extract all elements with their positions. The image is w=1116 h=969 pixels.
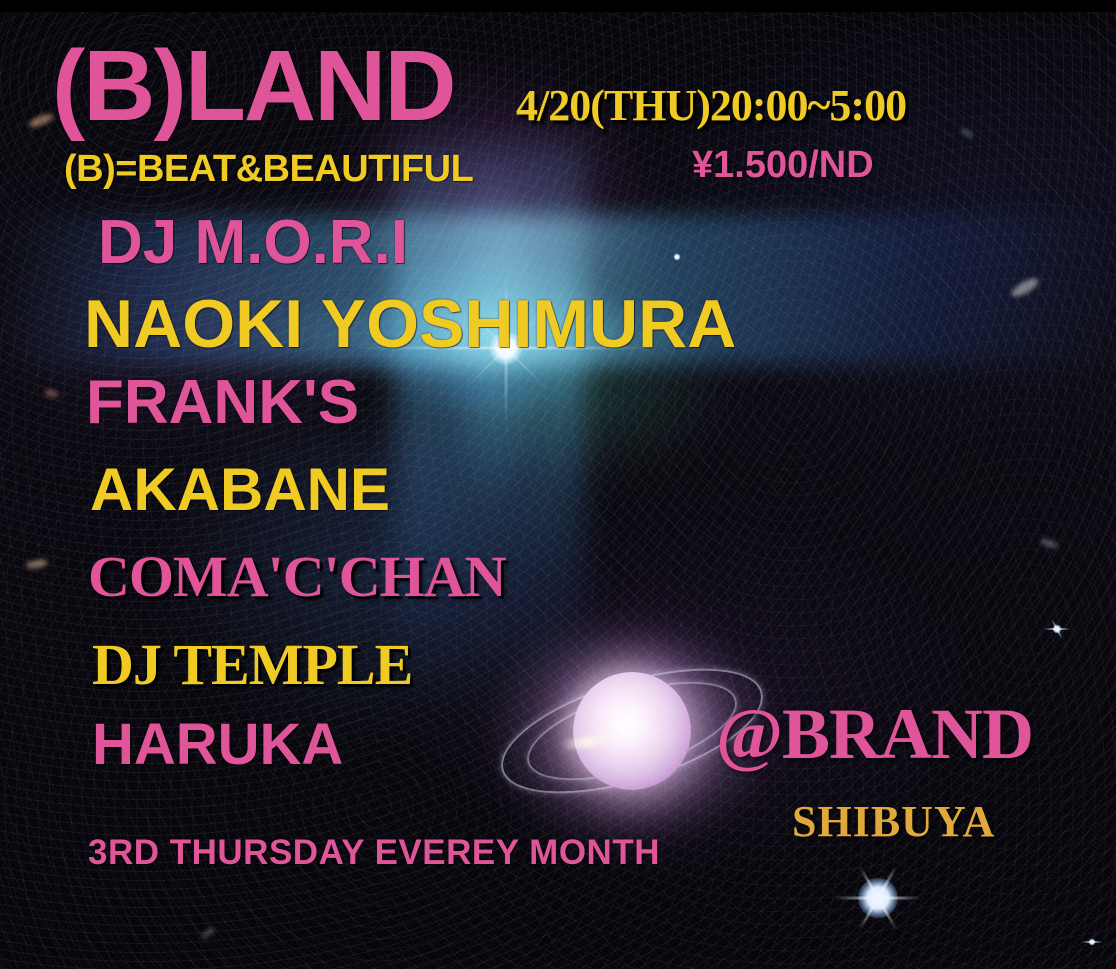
lineup-item-3: AKABANE [90,460,390,520]
planet-highlight [557,656,707,806]
event-price: ¥1.500/ND [692,146,874,184]
event-datetime: 4/20(THU)20:00~5:00 [516,84,906,128]
event-logo: (B)LAND [52,36,455,136]
poster-canvas: (B)LAND (B)=BEAT&BEAUTIFUL 4/20(THU)20:0… [0,0,1116,969]
lineup-item-5: DJ TEMPLE [92,636,412,694]
lineup-item-1: NAOKI YOSHIMURA [84,290,736,358]
event-tagline: (B)=BEAT&BEAUTIFUL [64,150,473,188]
venue-name: @BRAND [716,698,1033,770]
lineup-item-4: COMA'C'CHAN [88,548,506,606]
lineup-item-6: HARUKA [92,716,343,774]
recurrence-note: 3RD THURSDAY EVEREY MONTH [88,835,660,870]
lineup-item-0: DJ M.O.R.I [98,212,408,274]
top-black-bar [0,0,1116,12]
lineup-item-2: FRANK'S [86,372,359,434]
venue-area: SHIBUYA [792,800,995,844]
